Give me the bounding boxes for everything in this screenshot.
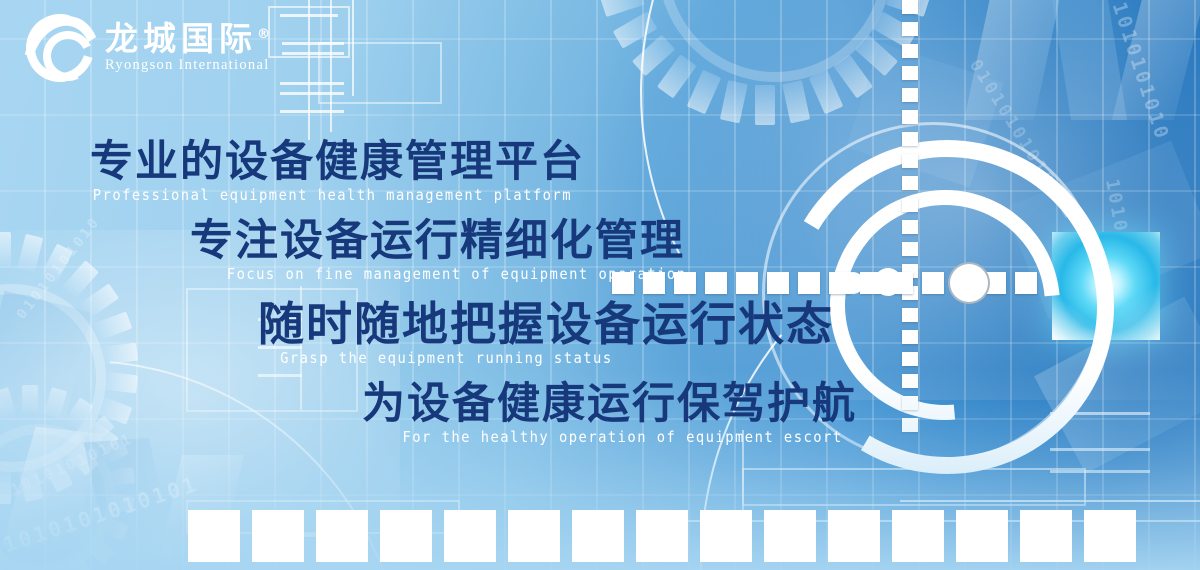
filmstrip-squares <box>188 510 1136 562</box>
registered-trademark-symbol: ® <box>257 27 270 42</box>
brand-logo[interactable]: 龙城国际® Ryongson International <box>26 14 270 82</box>
banner-image: 01010101010101 10101010101 0101010101010… <box>0 0 1200 570</box>
headline-line-1: 专业的设备健康管理平台 Professional equipment healt… <box>0 140 880 203</box>
reticle-dot-large <box>948 262 990 304</box>
headline-cn-2: 专注设备运行精细化管理 <box>190 219 880 265</box>
brand-name-en: Ryongson International <box>105 57 270 74</box>
headline-block: 专业的设备健康管理平台 Professional equipment healt… <box>0 140 880 451</box>
headline-en-4: For the healthy operation of equipment e… <box>362 429 839 446</box>
headline-cn-4: 为设备健康运行保驾护航 <box>362 382 880 428</box>
headline-cn-3: 随时随地把握设备运行状态 <box>258 300 880 349</box>
headline-en-3: Grasp the equipment running status <box>258 350 830 367</box>
brand-name-cn: 龙城国际® <box>105 22 270 56</box>
headline-en-1: Professional equipment health management… <box>90 187 817 204</box>
headline-en-2: Focus on fine management of equipment op… <box>190 266 825 283</box>
brand-name-cn-text: 龙城国际 <box>105 19 257 58</box>
swirl-circle-logo-icon <box>26 14 94 82</box>
headline-line-4: 为设备健康运行保驾护航 For the healthy operation of… <box>0 382 880 445</box>
headline-cn-1: 专业的设备健康管理平台 <box>90 140 880 186</box>
headline-line-3: 随时随地把握设备运行状态 Grasp the equipment running… <box>0 300 880 366</box>
headline-line-2: 专注设备运行精细化管理 Focus on fine management of … <box>0 219 880 282</box>
